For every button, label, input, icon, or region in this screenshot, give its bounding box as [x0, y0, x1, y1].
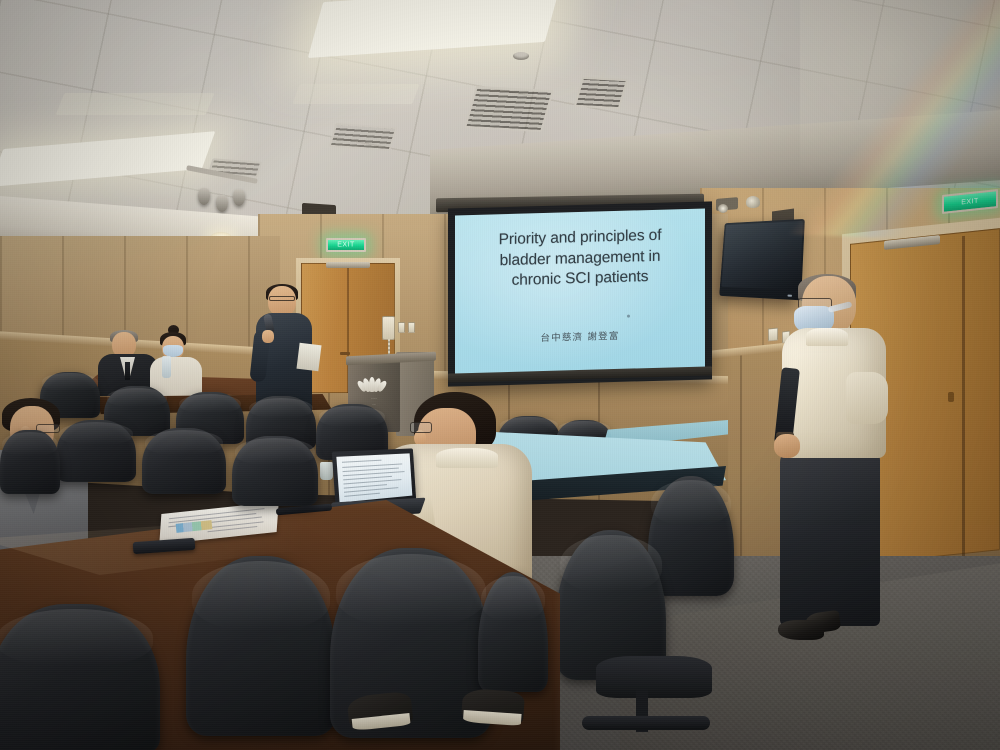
- exit-sign-left: EXIT: [326, 238, 366, 252]
- hand: [262, 330, 274, 343]
- person-standing-white-shirt: [772, 276, 892, 648]
- chair-mid-b[interactable]: [142, 428, 226, 494]
- shirt-collar: [806, 328, 848, 346]
- shirt-sleeve: [846, 372, 888, 424]
- ceiling-air-vent-b: [574, 77, 629, 109]
- spotlight-icon-a: [198, 188, 210, 205]
- ceiling-light-panel-dim-a: [56, 93, 215, 115]
- hand: [774, 434, 800, 458]
- lotus-emblem-icon: [358, 374, 386, 392]
- chair-foreground-d[interactable]: [478, 572, 548, 692]
- exit-sign-left-label: EXIT: [337, 242, 355, 249]
- held-papers: [296, 343, 321, 371]
- head: [268, 286, 296, 316]
- exit-sign-right-label: EXIT: [961, 197, 979, 206]
- person-seated-white-top: [148, 330, 204, 394]
- necktie: [125, 362, 130, 380]
- dress-shoe-left: [778, 620, 824, 640]
- shirt-collar: [436, 448, 498, 468]
- chair-center-right-b-seat[interactable]: [596, 656, 712, 698]
- trousers: [780, 450, 880, 626]
- conference-room-photo: EXIT EXIT Priority and principles of bla…: [0, 0, 1000, 750]
- laptop-screen: [336, 453, 412, 502]
- projection-screen-surface: Priority and principles of bladder manag…: [455, 209, 705, 380]
- projector-lens-icon: [718, 204, 728, 213]
- light-switch-b[interactable]: [408, 322, 415, 333]
- chair-foreground-a[interactable]: [186, 556, 336, 736]
- chair-mid-d[interactable]: [0, 430, 60, 494]
- ceiling-light-panel-dim-b: [292, 84, 419, 104]
- wall-camera-icon: [746, 196, 760, 208]
- chair-center-right-a[interactable]: [648, 476, 734, 596]
- ceiling-air-vent-c: [328, 123, 397, 151]
- wall-telephone[interactable]: [382, 316, 395, 340]
- chair-foreground-c[interactable]: [0, 604, 160, 750]
- sneaker-right: [461, 688, 525, 726]
- spotlight-icon-c: [233, 189, 245, 206]
- light-switch-a[interactable]: [398, 322, 405, 333]
- chair-center-right-b-base: [582, 716, 710, 730]
- ceiling-air-vent-a: [464, 86, 554, 132]
- door-lock-right[interactable]: [948, 392, 954, 402]
- smoke-detector-icon: [513, 52, 529, 60]
- door-right-seam: [962, 236, 965, 558]
- door-handle-left[interactable]: [340, 352, 350, 355]
- paper-cup[interactable]: [320, 462, 333, 480]
- chair-mid-a[interactable]: [56, 420, 136, 482]
- spotlight-icon-b: [216, 195, 228, 212]
- glasses-icon: [410, 422, 432, 433]
- slide-title: Priority and principles of bladder manag…: [467, 225, 693, 293]
- glasses-icon: [269, 296, 295, 301]
- water-bottle[interactable]: [162, 356, 171, 378]
- chair-mid-c[interactable]: [232, 436, 318, 506]
- door-closer-arm-left: [326, 262, 370, 268]
